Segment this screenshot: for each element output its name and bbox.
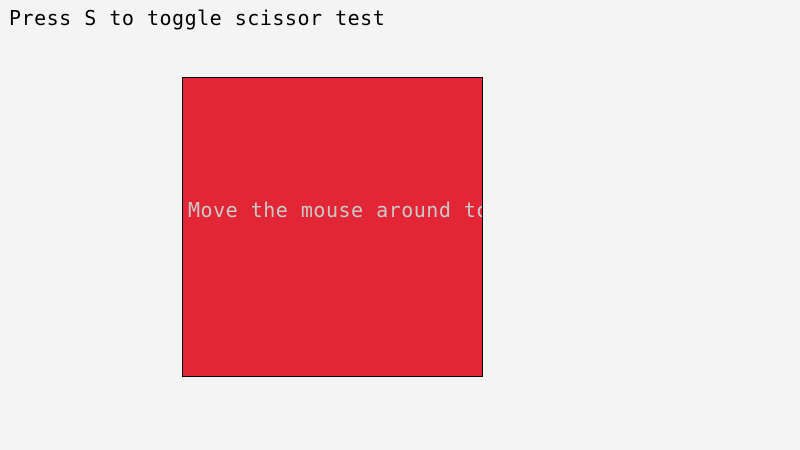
scissor-region[interactable]: Move the mouse around to reveal this tex… bbox=[182, 77, 483, 377]
scissor-fill-rect bbox=[183, 78, 482, 376]
scissor-toggle-hint: Press S to toggle scissor test bbox=[9, 7, 385, 29]
scissor-clipped-text: Move the mouse around to reveal this tex… bbox=[188, 199, 483, 221]
app-canvas[interactable]: Press S to toggle scissor test Move the … bbox=[0, 0, 800, 450]
